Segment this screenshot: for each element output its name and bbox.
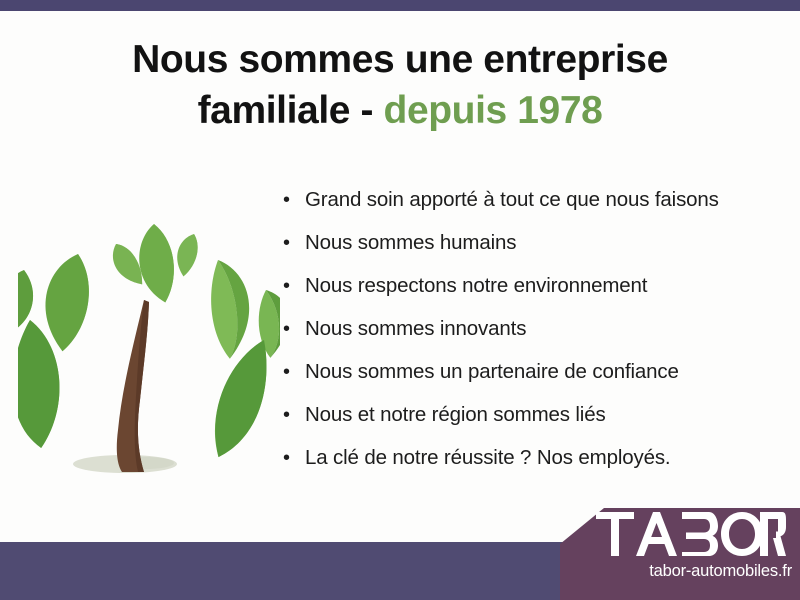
bullet-marker-icon: • <box>283 319 305 339</box>
list-item: • Nous respectons notre environnement <box>283 274 783 317</box>
slide-canvas: Nous sommes une entreprise familiale - d… <box>0 0 800 600</box>
bullet-marker-icon: • <box>283 362 305 382</box>
value-list: • Grand soin apporté à tout ce que nous … <box>283 188 783 489</box>
list-item: • Nous sommes innovants <box>283 317 783 360</box>
list-item: • Nous et notre région sommes liés <box>283 403 783 446</box>
list-item: • Grand soin apporté à tout ce que nous … <box>283 188 783 231</box>
logo-url-text[interactable]: tabor-automobiles.fr <box>560 562 792 581</box>
headline-accent-text: depuis 1978 <box>384 89 603 132</box>
bullet-marker-icon: • <box>283 448 305 468</box>
top-accent-bar <box>0 0 800 11</box>
list-item-label: La clé de notre réussite ? Nos employés. <box>305 446 670 470</box>
tree-icon <box>18 182 280 484</box>
list-item-label: Grand soin apporté à tout ce que nous fa… <box>305 188 719 212</box>
page-title: Nous sommes une entreprise familiale - d… <box>0 34 800 137</box>
list-item-label: Nous sommes innovants <box>305 317 526 341</box>
headline-line-1: Nous sommes une entreprise <box>40 34 760 85</box>
list-item: • La clé de notre réussite ? Nos employé… <box>283 446 783 489</box>
bullet-marker-icon: • <box>283 405 305 425</box>
list-item-label: Nous sommes humains <box>305 231 516 255</box>
bullet-marker-icon: • <box>283 190 305 210</box>
list-item: • Nous sommes humains <box>283 231 783 274</box>
list-item: • Nous sommes un partenaire de confiance <box>283 360 783 403</box>
headline-line-2-plain: familiale - <box>198 89 384 132</box>
headline-line-2: familiale - depuis 1978 <box>40 85 760 136</box>
list-item-label: Nous sommes un partenaire de confiance <box>305 360 679 384</box>
list-item-label: Nous et notre région sommes liés <box>305 403 606 427</box>
list-item-label: Nous respectons notre environnement <box>305 274 647 298</box>
bullet-marker-icon: • <box>283 233 305 253</box>
tabor-logo[interactable] <box>596 512 786 556</box>
bullet-marker-icon: • <box>283 276 305 296</box>
